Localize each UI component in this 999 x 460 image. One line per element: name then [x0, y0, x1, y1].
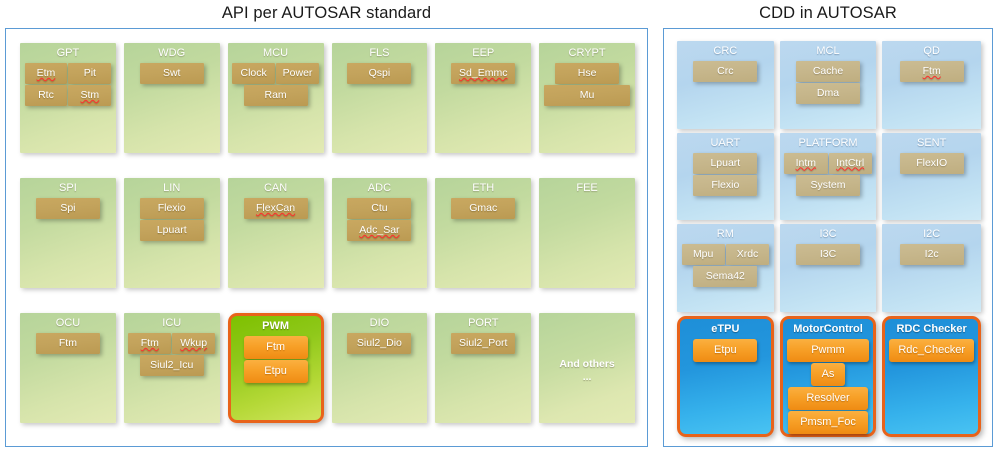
- driver-chip-i3c[interactable]: I3C: [796, 244, 860, 265]
- module-card-dio[interactable]: DIOSiul2_Dio: [332, 313, 428, 423]
- module-card-title: OCU: [56, 317, 80, 330]
- driver-chip-lpuart[interactable]: Lpuart: [140, 220, 204, 241]
- module-card-icu[interactable]: ICUFtmWkupSiul2_Icu: [124, 313, 220, 423]
- driver-chip-list: Qspi: [332, 63, 428, 84]
- module-card-title: CAN: [264, 182, 287, 195]
- module-card-title: ADC: [368, 182, 391, 195]
- module-card-i2c[interactable]: I2CI2c: [882, 224, 981, 312]
- module-card-title: MotorControl: [793, 323, 863, 336]
- module-card-title: PLATFORM: [798, 137, 857, 150]
- driver-chip-list: FlexIO: [882, 153, 981, 174]
- driver-chip-rdc-checker[interactable]: Rdc_Checker: [889, 339, 974, 362]
- driver-chip-as[interactable]: As: [811, 363, 845, 386]
- module-card-lin[interactable]: LINFlexioLpuart: [124, 178, 220, 288]
- driver-chip-list: Spi: [20, 198, 116, 219]
- driver-chip-mpu[interactable]: Mpu: [682, 244, 725, 265]
- driver-chip-wkup[interactable]: Wkup: [172, 333, 215, 354]
- driver-chip-list: CacheDma: [780, 61, 877, 104]
- module-card-title: I2C: [923, 228, 940, 241]
- driver-chip-etpu[interactable]: Etpu: [244, 360, 308, 383]
- module-card-pwm[interactable]: PWMFtmEtpu: [228, 313, 324, 423]
- module-card-eth[interactable]: ETHGmac: [435, 178, 531, 288]
- module-card-gpt[interactable]: GPTEtmPitRtcStm: [20, 43, 116, 153]
- module-card-fee[interactable]: FEE: [539, 178, 635, 288]
- driver-chip-mu[interactable]: Mu: [544, 85, 630, 106]
- driver-chip-crc[interactable]: Crc: [693, 61, 757, 82]
- driver-chip-pit[interactable]: Pit: [68, 63, 111, 84]
- module-card-title: SENT: [917, 137, 946, 150]
- module-card-qd[interactable]: QDFtm: [882, 41, 981, 129]
- module-card-mcl[interactable]: MCLCacheDma: [780, 41, 877, 129]
- module-card-title: PWM: [262, 320, 289, 333]
- driver-chip-list: MpuXrdcSema42: [677, 244, 774, 287]
- module-card-spi[interactable]: SPISpi: [20, 178, 116, 288]
- module-card-title: GPT: [57, 47, 80, 60]
- module-card-title: DIO: [370, 317, 390, 330]
- left-panel-title: API per AUTOSAR standard: [5, 4, 648, 23]
- driver-chip-list: CtuAdc_Sar: [332, 198, 428, 241]
- module-card-title: SPI: [59, 182, 77, 195]
- driver-chip-ftm[interactable]: Ftm: [36, 333, 100, 354]
- module-card-platform[interactable]: PLATFORMIntmIntCtrlSystem: [780, 133, 877, 221]
- module-card-title: eTPU: [711, 323, 739, 336]
- driver-chip-list: IntmIntCtrlSystem: [780, 153, 877, 196]
- driver-chip-list: Etpu: [680, 339, 771, 362]
- driver-chip-list: FtmEtpu: [231, 336, 321, 383]
- module-card-port[interactable]: PORTSiul2_Port: [435, 313, 531, 423]
- driver-chip-list: I3C: [780, 244, 877, 265]
- module-card-title: WDG: [158, 47, 185, 60]
- module-card-title: QD: [923, 45, 940, 58]
- module-card-title: EEP: [472, 47, 494, 60]
- driver-chip-ftm[interactable]: Ftm: [128, 333, 171, 354]
- cdd-module-grid: CRCCrcMCLCacheDmaQDFtmUARTLpuartFlexioPL…: [677, 41, 981, 437]
- driver-chip-i2c[interactable]: I2c: [900, 244, 964, 265]
- driver-chip-stm[interactable]: Stm: [68, 85, 111, 106]
- module-card-adc[interactable]: ADCCtuAdc_Sar: [332, 178, 428, 288]
- driver-chip-list: LpuartFlexio: [677, 153, 774, 196]
- driver-chip-cache[interactable]: Cache: [796, 61, 860, 82]
- autosar-api-panel: GPTEtmPitRtcStmWDGSwtMCUClockPowerRamFLS…: [5, 28, 648, 447]
- driver-chip-flexio[interactable]: FlexIO: [900, 153, 964, 174]
- module-card-title: RM: [717, 228, 734, 241]
- driver-chip-sema42[interactable]: Sema42: [693, 266, 757, 287]
- driver-chip-rtc[interactable]: Rtc: [25, 85, 68, 106]
- driver-chip-etm[interactable]: Etm: [25, 63, 68, 84]
- driver-chip-ctu[interactable]: Ctu: [347, 198, 411, 219]
- driver-chip-intm[interactable]: Intm: [784, 153, 827, 174]
- module-card-can[interactable]: CANFlexCan: [228, 178, 324, 288]
- driver-chip-flexio[interactable]: Flexio: [693, 175, 757, 196]
- driver-chip-list: EtmPitRtcStm: [20, 63, 116, 106]
- driver-chip-list: FlexCan: [228, 198, 324, 219]
- driver-chip-list: Sd_Emmc: [435, 63, 531, 84]
- module-card-rdc-checker[interactable]: RDC CheckerRdc_Checker: [882, 316, 981, 437]
- driver-chip-list: I2c: [882, 244, 981, 265]
- module-card-title: UART: [710, 137, 740, 150]
- driver-chip-list: HseMu: [539, 63, 635, 106]
- driver-chip-siul2-dio[interactable]: Siul2_Dio: [347, 333, 411, 354]
- driver-chip-pmsm-foc[interactable]: Pmsm_Foc: [788, 411, 869, 434]
- module-card-fls[interactable]: FLSQspi: [332, 43, 428, 153]
- driver-chip-list: FlexioLpuart: [124, 198, 220, 241]
- driver-chip-spi[interactable]: Spi: [36, 198, 100, 219]
- and-others-label: And others: [559, 357, 614, 371]
- driver-chip-list: FtmWkupSiul2_Icu: [124, 333, 220, 376]
- driver-chip-adc-sar[interactable]: Adc_Sar: [347, 220, 411, 241]
- driver-chip-intctrl[interactable]: IntCtrl: [829, 153, 872, 174]
- module-card-eep[interactable]: EEPSd_Emmc: [435, 43, 531, 153]
- driver-chip-qspi[interactable]: Qspi: [347, 63, 411, 84]
- module-card-crypt[interactable]: CRYPTHseMu: [539, 43, 635, 153]
- driver-chip-power[interactable]: Power: [276, 63, 319, 84]
- driver-chip-flexio[interactable]: Flexio: [140, 198, 204, 219]
- driver-chip-list: ClockPowerRam: [228, 63, 324, 106]
- driver-chip-hse[interactable]: Hse: [555, 63, 619, 84]
- driver-chip-pwmm[interactable]: Pwmm: [787, 339, 870, 362]
- module-card-title: FEE: [576, 182, 597, 195]
- module-card-wdg[interactable]: WDGSwt: [124, 43, 220, 153]
- driver-chip-xrdc[interactable]: Xrdc: [726, 244, 769, 265]
- driver-chip-flexcan[interactable]: FlexCan: [244, 198, 308, 219]
- module-card-uart[interactable]: UARTLpuartFlexio: [677, 133, 774, 221]
- and-others-ellipsis: ...: [583, 371, 592, 383]
- driver-chip-ftm[interactable]: Ftm: [900, 61, 964, 82]
- module-card-sent[interactable]: SENTFlexIO: [882, 133, 981, 221]
- cdd-panel: CRCCrcMCLCacheDmaQDFtmUARTLpuartFlexioPL…: [663, 28, 993, 447]
- right-panel-title: CDD in AUTOSAR: [663, 4, 993, 23]
- module-card-rm[interactable]: RMMpuXrdcSema42: [677, 224, 774, 312]
- module-card-mcu[interactable]: MCUClockPowerRam: [228, 43, 324, 153]
- module-card-title: ICU: [162, 317, 181, 330]
- driver-chip-ram[interactable]: Ram: [244, 85, 308, 106]
- driver-chip-list: Ftm: [882, 61, 981, 82]
- driver-chip-resolver[interactable]: Resolver: [788, 387, 869, 410]
- driver-chip-list: Rdc_Checker: [885, 339, 978, 362]
- driver-chip-siul2-icu[interactable]: Siul2_Icu: [140, 355, 204, 376]
- driver-chip-lpuart[interactable]: Lpuart: [693, 153, 757, 174]
- module-card-title: ETH: [472, 182, 494, 195]
- driver-chip-list: Gmac: [435, 198, 531, 219]
- module-card-title: RDC Checker: [897, 323, 967, 336]
- module-card-title: PORT: [468, 317, 498, 330]
- module-card-title: MCU: [263, 47, 288, 60]
- driver-chip-etpu[interactable]: Etpu: [693, 339, 757, 362]
- module-card-title: LIN: [163, 182, 180, 195]
- driver-chip-list: Ftm: [20, 333, 116, 354]
- autosar-module-grid: GPTEtmPitRtcStmWDGSwtMCUClockPowerRamFLS…: [20, 43, 635, 423]
- module-card-motorcontrol[interactable]: MotorControlPwmmAsResolverPmsm_Foc: [780, 316, 877, 437]
- driver-chip-list: Swt: [124, 63, 220, 84]
- driver-chip-ftm[interactable]: Ftm: [244, 336, 308, 359]
- driver-chip-list: PwmmAsResolverPmsm_Foc: [783, 339, 874, 434]
- module-card-etpu[interactable]: eTPUEtpu: [677, 316, 774, 437]
- module-card-title: I3C: [819, 228, 836, 241]
- driver-chip-siul2-port[interactable]: Siul2_Port: [451, 333, 515, 354]
- driver-chip-list: Crc: [677, 61, 774, 82]
- driver-chip-gmac[interactable]: Gmac: [451, 198, 515, 219]
- module-card-and-others[interactable]: And others...: [539, 313, 635, 423]
- module-card-title: CRC: [713, 45, 737, 58]
- driver-chip-clock[interactable]: Clock: [232, 63, 275, 84]
- driver-chip-dma[interactable]: Dma: [796, 83, 860, 104]
- module-card-title: CRYPT: [569, 47, 606, 60]
- module-card-i3c[interactable]: I3CI3C: [780, 224, 877, 312]
- driver-chip-swt[interactable]: Swt: [140, 63, 204, 84]
- driver-chip-list: Siul2_Port: [435, 333, 531, 354]
- module-card-title: MCL: [816, 45, 839, 58]
- driver-chip-sd-emmc[interactable]: Sd_Emmc: [451, 63, 515, 84]
- module-card-crc[interactable]: CRCCrc: [677, 41, 774, 129]
- driver-chip-list: Siul2_Dio: [332, 333, 428, 354]
- module-card-title: FLS: [369, 47, 389, 60]
- driver-chip-system[interactable]: System: [796, 175, 860, 196]
- module-card-ocu[interactable]: OCUFtm: [20, 313, 116, 423]
